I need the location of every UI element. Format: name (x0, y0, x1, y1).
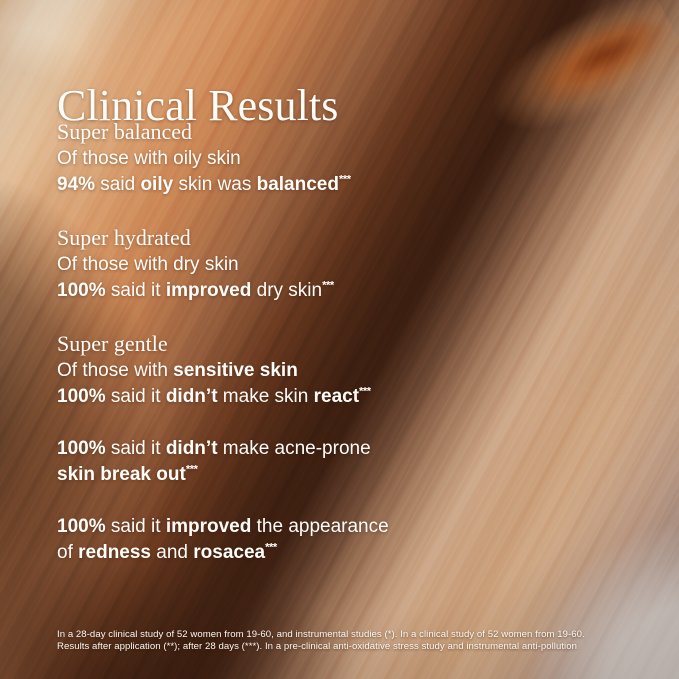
claim-block-super-balanced: Super balanced Of those with oily skin 9… (57, 118, 477, 198)
plain-text: Of those with dry skin (57, 254, 239, 275)
footnote-marker: *** (359, 386, 371, 398)
claim-block-acne-prone: 100% said it didn’t make acne-prone skin… (57, 436, 477, 488)
claim-line: 100% said it didn’t make acne-prone (57, 436, 477, 462)
emphasis-text: 94% (57, 174, 95, 195)
claim-line: 94% said oily skin was balanced*** (57, 172, 477, 198)
emphasis-text: 100% (57, 386, 106, 407)
plain-text: of (57, 542, 78, 563)
emphasis-text: didn’t (166, 386, 218, 407)
plain-text: said it (106, 280, 166, 301)
claim-line: 100% said it improved the appearance (57, 514, 477, 540)
emphasis-text: redness (78, 542, 151, 563)
emphasis-text: balanced (257, 174, 339, 195)
plain-text: make acne-prone (218, 438, 371, 459)
emphasis-text: 100% (57, 438, 106, 459)
footnote-line-1: In a 28-day clinical study of 52 women f… (57, 629, 653, 641)
emphasis-text: didn’t (166, 438, 218, 459)
claim-line: Of those with oily skin (57, 146, 477, 172)
plain-text: and (151, 542, 193, 563)
plain-text: dry skin (251, 280, 322, 301)
emphasis-text: react (314, 386, 359, 407)
claim-line: skin break out*** (57, 462, 477, 488)
plain-text: Of those with oily skin (57, 148, 241, 169)
claim-line: 100% said it improved dry skin*** (57, 278, 477, 304)
footnote-marker: *** (186, 464, 198, 476)
footnote: In a 28-day clinical study of 52 women f… (57, 629, 653, 654)
plain-text: said it (106, 438, 166, 459)
plain-text: skin was (173, 174, 256, 195)
emphasis-text: oily (140, 174, 173, 195)
footnote-marker: *** (265, 542, 277, 554)
plain-text: make skin (218, 386, 314, 407)
footnote-marker: *** (322, 280, 334, 292)
emphasis-text: improved (166, 516, 252, 537)
plain-text: said it (106, 516, 166, 537)
claims-list: Super balanced Of those with oily skin 9… (57, 118, 477, 566)
emphasis-text: skin break out (57, 464, 186, 485)
claim-heading: Super gentle (57, 330, 477, 358)
emphasis-text: 100% (57, 280, 106, 301)
footnote-line-2: Results after application (**); after 28… (57, 641, 653, 653)
claim-block-super-gentle: Super gentle Of those with sensitive ski… (57, 330, 477, 410)
emphasis-text: 100% (57, 516, 106, 537)
plain-text: said it (106, 386, 166, 407)
emphasis-text: rosacea (193, 542, 265, 563)
emphasis-text: sensitive skin (173, 360, 298, 381)
claim-block-super-hydrated: Super hydrated Of those with dry skin 10… (57, 224, 477, 304)
emphasis-text: improved (166, 280, 252, 301)
clinical-results-card: Clinical Results Super balanced Of those… (0, 0, 679, 679)
claim-heading: Super balanced (57, 118, 477, 146)
claim-line: of redness and rosacea*** (57, 540, 477, 566)
claim-line: Of those with dry skin (57, 252, 477, 278)
claim-heading: Super hydrated (57, 224, 477, 252)
plain-text: the appearance (251, 516, 388, 537)
claim-block-redness-rosacea: 100% said it improved the appearance of … (57, 514, 477, 566)
plain-text: Of those with (57, 360, 173, 381)
plain-text: said (95, 174, 140, 195)
claim-line: Of those with sensitive skin (57, 358, 477, 384)
footnote-marker: *** (339, 174, 351, 186)
claim-line: 100% said it didn’t make skin react*** (57, 384, 477, 410)
